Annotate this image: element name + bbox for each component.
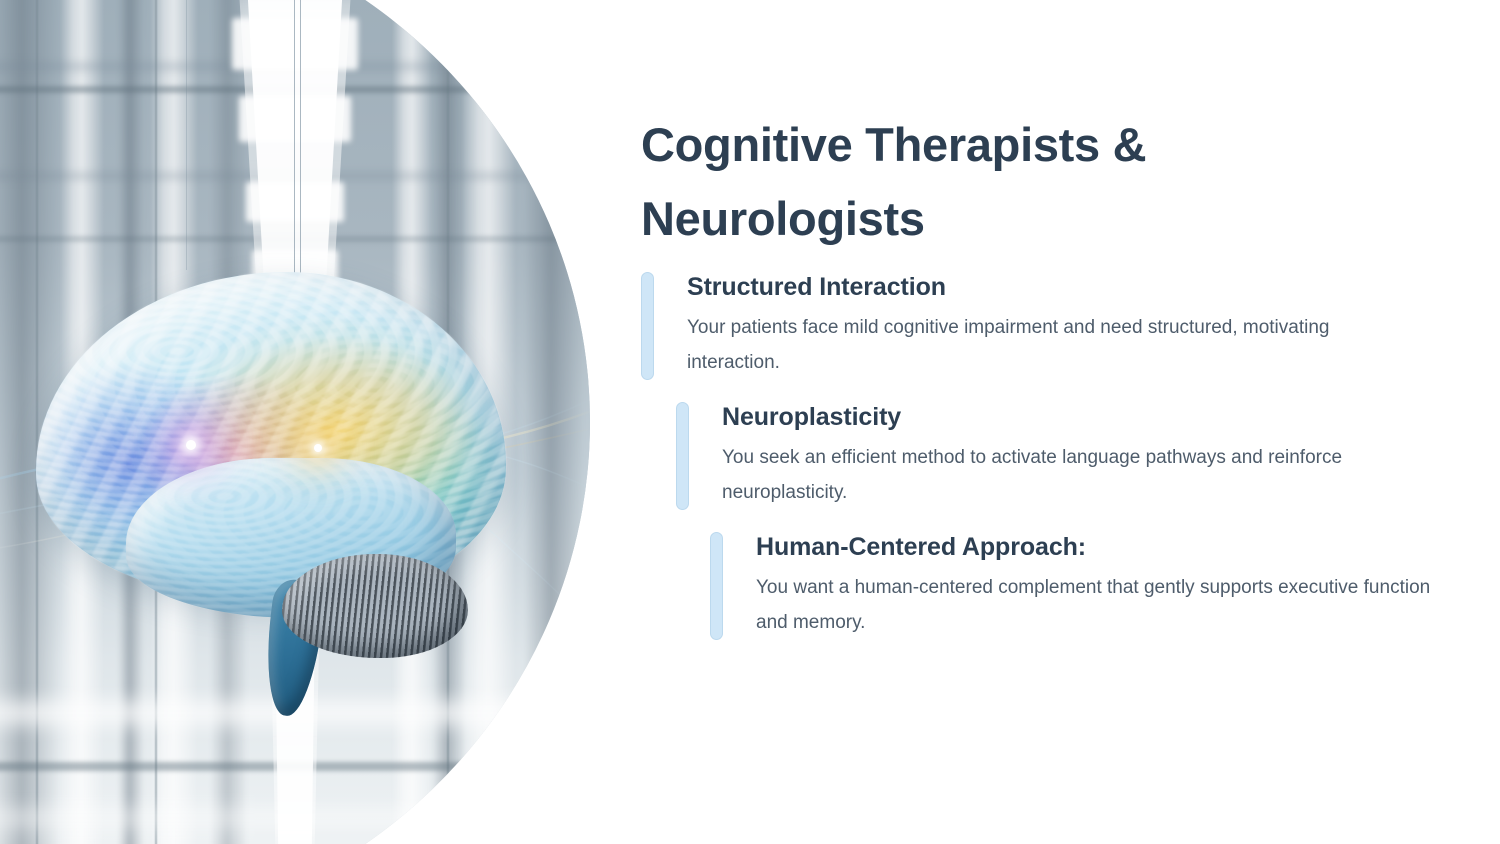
neural-spark <box>314 444 322 452</box>
accent-bar <box>710 532 723 640</box>
ceiling-light-panel <box>239 96 351 142</box>
cerebellum <box>282 554 468 658</box>
feature-block-title: Neuroplasticity <box>722 402 1441 432</box>
ceiling-light-panel <box>232 18 358 70</box>
feature-block-body: You seek an efficient method to activate… <box>722 441 1441 510</box>
feature-block-text: Neuroplasticity You seek an efficient me… <box>689 402 1441 510</box>
accent-bar <box>676 402 689 510</box>
neural-spark <box>186 440 196 450</box>
ellipse-image-mask <box>0 0 590 844</box>
feature-block-body: You want a human-centered complement tha… <box>756 571 1441 640</box>
suspension-wire <box>186 0 187 270</box>
suspension-wire <box>300 0 301 300</box>
feature-block: Structured Interaction Your patients fac… <box>641 272 1441 380</box>
feature-block-list: Structured Interaction Your patients fac… <box>641 272 1441 662</box>
feature-block-title: Structured Interaction <box>687 272 1417 302</box>
feature-block: Neuroplasticity You seek an efficient me… <box>641 402 1441 510</box>
feature-block-text: Human-Centered Approach: You want a huma… <box>723 532 1441 640</box>
page-title: Cognitive Therapists & Neurologists <box>641 108 1301 257</box>
feature-block-body: Your patients face mild cognitive impair… <box>687 311 1417 380</box>
suspension-wire <box>294 0 295 300</box>
corridor-brain-photo <box>0 0 590 844</box>
accent-bar <box>641 272 654 380</box>
content-panel: Cognitive Therapists & Neurologists Stru… <box>641 0 1461 844</box>
feature-block: Human-Centered Approach: You want a huma… <box>641 532 1441 640</box>
brain-illustration <box>14 262 534 692</box>
slide-root: Cognitive Therapists & Neurologists Stru… <box>0 0 1500 844</box>
visual-panel <box>0 0 600 844</box>
ceiling-light-panel <box>246 182 344 222</box>
feature-block-text: Structured Interaction Your patients fac… <box>654 272 1417 380</box>
feature-block-title: Human-Centered Approach: <box>756 532 1441 562</box>
